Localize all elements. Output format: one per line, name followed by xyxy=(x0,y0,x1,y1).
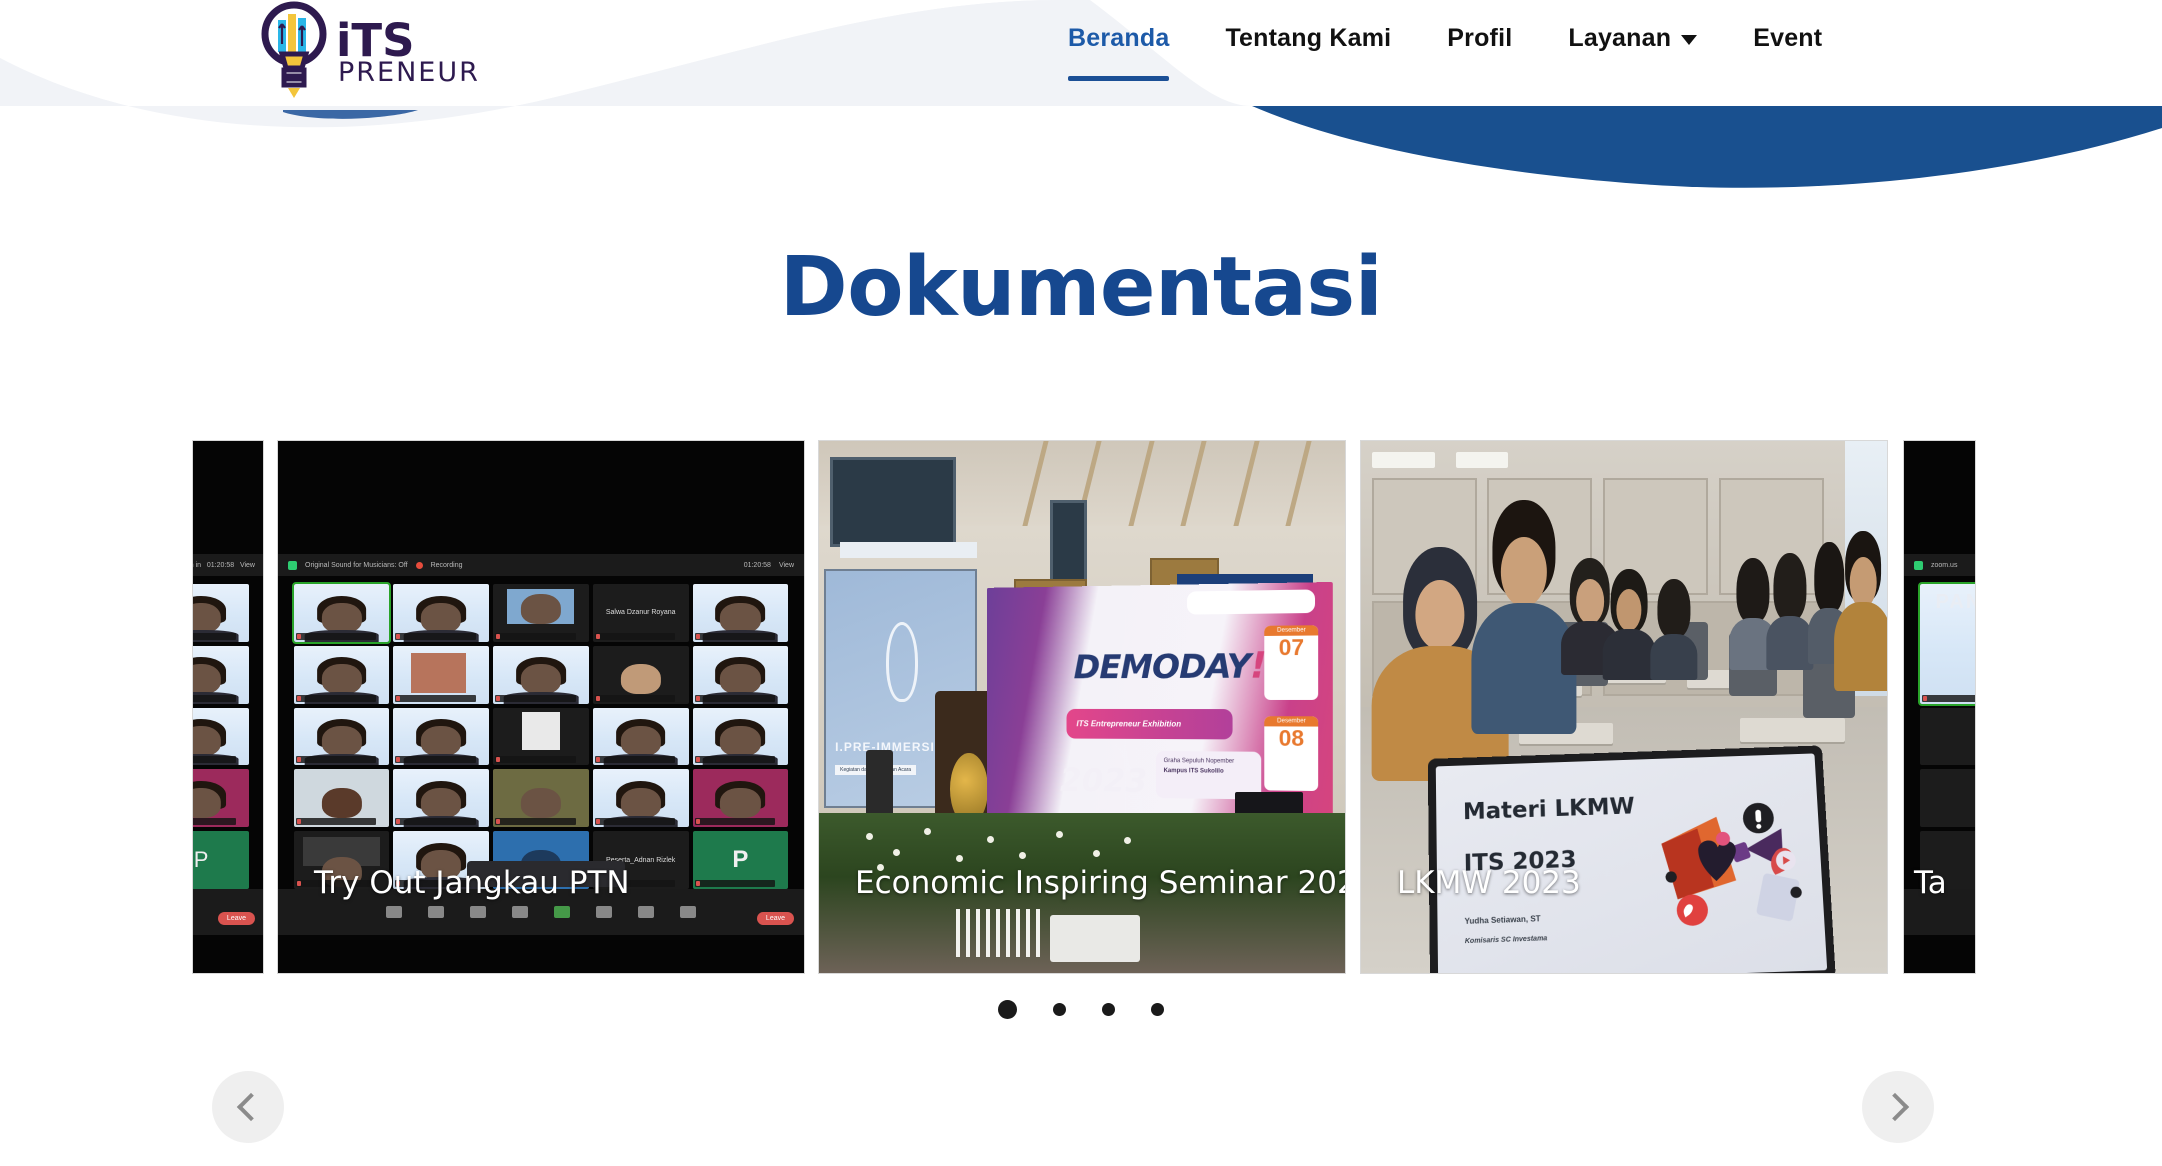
zoom-topbar-left-text: Original Sound for Musicians: Off xyxy=(305,562,408,569)
original-sound-icon xyxy=(288,561,297,570)
carousel-pagination-dots xyxy=(0,1000,2162,1019)
nav-item-tentang-kami[interactable]: Tentang Kami xyxy=(1197,24,1419,53)
slide-caption: Try Out Jangkau PTN xyxy=(314,865,630,901)
laptop-slide-display: Materi LKMW ITS 2023 Yudha Setiawan, ST … xyxy=(1428,745,1836,973)
zoom-tile xyxy=(393,646,489,704)
carousel-slide-prev-partial[interactable]: OS Rec Sign in 01:20:58 View Salwa Dzanu… xyxy=(192,440,264,974)
person-foreground-right xyxy=(1834,531,1887,691)
documentation-carousel: OS Rec Sign in 01:20:58 View Salwa Dzanu… xyxy=(0,440,2162,980)
laptop-text-line3: Yudha Setiawan, ST xyxy=(1465,913,1541,925)
zoom-tile xyxy=(493,769,589,827)
zoom-unmute-icon[interactable] xyxy=(386,906,402,918)
logo-text-its: iTS xyxy=(336,20,480,61)
demoday-banner: DEMODAY! ITS Entrepreneur Exhibition 202… xyxy=(987,582,1333,822)
zoom-tile xyxy=(493,584,589,642)
zoom-tile xyxy=(693,584,789,642)
zoom-apps-icon[interactable] xyxy=(680,906,696,918)
carousel-slide-lkmw-2023[interactable]: Materi LKMW ITS 2023 Yudha Setiawan, ST … xyxy=(1360,440,1888,974)
nav-label-layanan: Layanan xyxy=(1568,24,1671,53)
nav-active-underline xyxy=(1068,76,1169,81)
banner-date-2: Desember 08 xyxy=(1265,716,1319,790)
person-row2-c xyxy=(1650,579,1697,680)
site-logo[interactable]: iTS PRENEUR xyxy=(258,0,480,106)
nav-item-profil[interactable]: Profil xyxy=(1419,24,1540,53)
zoom-view-text: View xyxy=(779,562,794,569)
zoom-video-icon[interactable] xyxy=(428,906,444,918)
site-header: iTS PRENEUR Beranda Tentang Kami Profil … xyxy=(0,0,2162,200)
laptop-text-line4: Komisaris SC Investama xyxy=(1465,935,1548,945)
nav-item-beranda[interactable]: Beranda xyxy=(1040,24,1197,53)
carousel-dot-2[interactable] xyxy=(1053,1003,1066,1016)
banner-title-text: DEMODAY! xyxy=(1074,645,1266,687)
slide-caption: Economic Inspiring Seminar 2023 xyxy=(855,865,1346,901)
zoom-tile xyxy=(294,584,390,642)
carousel-slide-next-partial[interactable]: zoom.us PANIT xyxy=(1903,440,1976,974)
logo-wordmark: iTS PRENEUR xyxy=(336,14,480,86)
zoom-tile xyxy=(393,584,489,642)
zoom-tile xyxy=(294,769,390,827)
zoom-tile xyxy=(493,646,589,704)
carousel-prev-button[interactable] xyxy=(212,1071,284,1143)
lightbulb-chart-icon xyxy=(258,0,330,106)
laptop-text-line1: Materi LKMW xyxy=(1463,793,1635,824)
carousel-next-button[interactable] xyxy=(1862,1071,1934,1143)
carousel-slide-economic-inspiring-seminar[interactable]: I.PRE-IMMERSION Kegiatan dan Keterangan … xyxy=(818,440,1346,974)
zoom-tile-named: Salwa Dzanur Royana xyxy=(593,584,689,642)
zoom-leave-button[interactable]: Leave xyxy=(757,912,794,925)
zoom-tile xyxy=(593,708,689,766)
carousel-dot-3[interactable] xyxy=(1102,1003,1115,1016)
carousel-dot-4[interactable] xyxy=(1151,1003,1164,1016)
banner-subtitle-text: ITS Entrepreneur Exhibition xyxy=(1077,719,1182,728)
zoom-share-screen-icon[interactable] xyxy=(554,906,570,918)
zoom-record-icon[interactable] xyxy=(596,906,612,918)
carousel-slide-try-out-jangkau-ptn[interactable]: Original Sound for Musicians: Off Record… xyxy=(277,440,805,974)
nav-item-event[interactable]: Event xyxy=(1725,24,1850,53)
zoom-chat-icon[interactable] xyxy=(512,906,528,918)
nav-label-profil: Profil xyxy=(1447,24,1512,53)
person-row3-b xyxy=(1766,553,1813,670)
zoom-tile xyxy=(693,646,789,704)
slide-caption: LKMW 2023 xyxy=(1397,865,1581,901)
megaphone-illustration-icon xyxy=(1634,775,1811,954)
recording-icon xyxy=(416,562,423,569)
zoom-reactions-icon[interactable] xyxy=(638,906,654,918)
nav-label-event: Event xyxy=(1753,24,1822,53)
zoom-participants-icon[interactable] xyxy=(470,906,486,918)
zoom-timer-text: 01:20:58 xyxy=(744,562,771,569)
nav-label-tentang-kami: Tentang Kami xyxy=(1225,24,1391,53)
zoom-tile xyxy=(693,708,789,766)
zoom-tile xyxy=(593,646,689,704)
page-title: Dokumentasi xyxy=(0,240,2162,335)
banner-date-1: Desember 07 xyxy=(1265,625,1319,699)
chevron-left-icon xyxy=(237,1093,265,1121)
person-row2-b xyxy=(1603,569,1656,681)
nav-item-layanan[interactable]: Layanan xyxy=(1540,24,1725,53)
carousel-dot-1[interactable] xyxy=(998,1000,1017,1019)
main-navigation: Beranda Tentang Kami Profil Layanan Even… xyxy=(1040,24,1850,53)
banner-year-text: 2023 xyxy=(1060,761,1147,800)
zoom-tile xyxy=(393,769,489,827)
zoom-recording-text: Recording xyxy=(431,562,463,569)
slide-caption: Ta xyxy=(1914,865,1947,901)
logo-text-preneur: PRENEUR xyxy=(336,61,480,86)
chevron-down-icon xyxy=(1681,35,1697,45)
banner-venue-1: Graha Sepuluh Nopember xyxy=(1164,757,1253,767)
nav-label-beranda: Beranda xyxy=(1068,24,1169,53)
slide-image-zoom-meeting: OS Rec Sign in 01:20:58 View Salwa Dzanu… xyxy=(193,441,263,973)
zoom-tile xyxy=(294,646,390,704)
page-root: iTS PRENEUR Beranda Tentang Kami Profil … xyxy=(0,0,2162,1166)
header-bar: iTS PRENEUR Beranda Tentang Kami Profil … xyxy=(0,0,2162,112)
zoom-tile: P xyxy=(693,831,789,889)
zoom-tile xyxy=(294,708,390,766)
zoom-participant-grid: Salwa Dzanur Royana xyxy=(294,584,788,889)
zoom-tile xyxy=(693,769,789,827)
chevron-right-icon xyxy=(1881,1093,1909,1121)
zoom-tile xyxy=(493,708,589,766)
zoom-tile xyxy=(393,708,489,766)
zoom-tile xyxy=(593,769,689,827)
zoom-topbar: Original Sound for Musicians: Off Record… xyxy=(278,554,804,576)
banner-venue-2: Kampus ITS Sukolilo xyxy=(1164,766,1253,777)
